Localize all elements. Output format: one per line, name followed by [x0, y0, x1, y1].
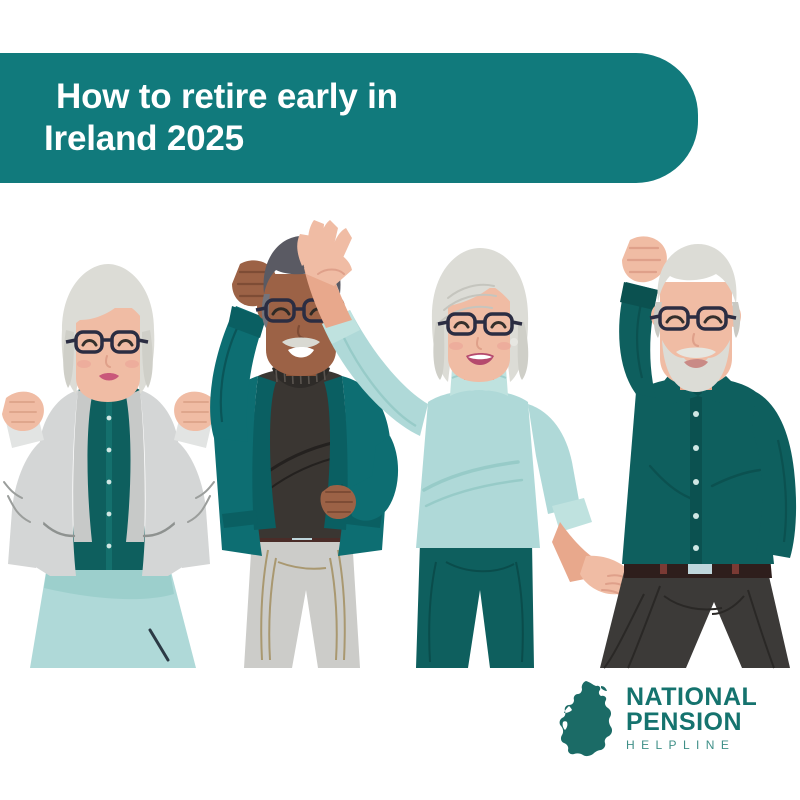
page-title-line-2: Ireland 2025	[44, 118, 698, 160]
figure-man-teal-blazer	[210, 236, 398, 668]
poster-canvas: How to retire early in Ireland 2025	[0, 0, 800, 800]
figure-man-teal-shirt	[600, 236, 796, 668]
logo-brand-line-1: NATIONAL	[626, 685, 757, 710]
logo-wordmark: NATIONAL PENSION HELPLINE	[626, 685, 757, 754]
hero-illustration	[0, 190, 800, 680]
title-banner: How to retire early in Ireland 2025	[0, 53, 698, 183]
ireland-map-icon	[556, 679, 618, 759]
logo-sub-line: HELPLINE	[626, 735, 757, 754]
page-title-line-1: How to retire early in	[44, 76, 698, 118]
brand-logo[interactable]: NATIONAL PENSION HELPLINE	[556, 678, 766, 760]
logo-brand-line-2: PENSION	[626, 710, 757, 735]
cheering-seniors-illustration	[0, 190, 800, 680]
figure-woman-grey-blazer	[2, 264, 216, 668]
